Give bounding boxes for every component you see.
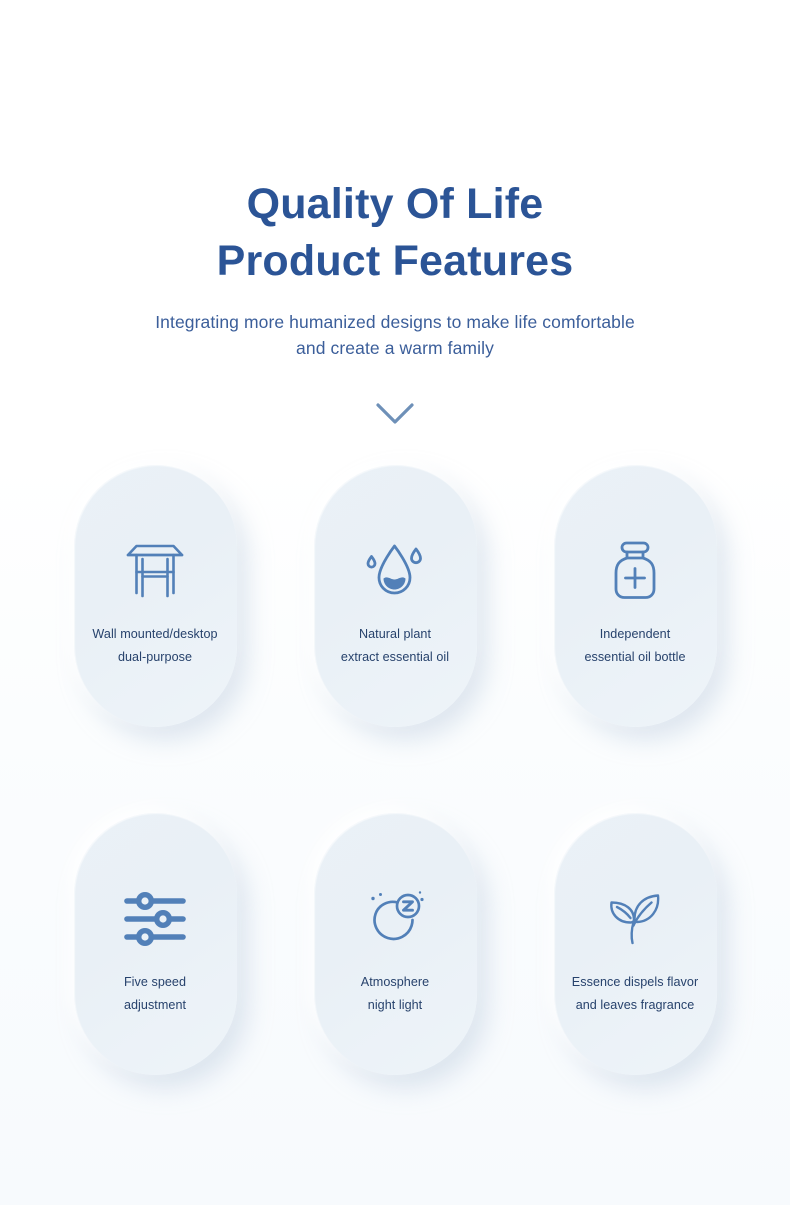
feature-card-wall-mounted-desktop[interactable]: Wall mounted/desktop dual-purpose	[74, 465, 237, 727]
feature-card-label: Essence dispels flavor and leaves fragra…	[559, 971, 711, 1017]
product-features-page: Quality Of Life Product Features Integra…	[0, 0, 790, 1205]
moon-sleep-icon	[363, 887, 427, 951]
feature-label-line-2: adjustment	[79, 994, 231, 1017]
feature-label-line-1: Essence dispels flavor	[572, 975, 698, 989]
page-title: Quality Of Life Product Features	[0, 176, 790, 290]
page-subtitle-line-2: and create a warm family	[0, 335, 790, 361]
feature-label-line-1: Five speed	[124, 975, 186, 989]
oil-bottle-icon	[603, 539, 667, 603]
feature-card-essence-dispels-flavor[interactable]: Essence dispels flavor and leaves fragra…	[554, 813, 717, 1075]
chevron-down-icon	[375, 401, 415, 427]
water-droplet-icon	[363, 539, 427, 603]
feature-card-atmosphere-night-light[interactable]: Atmosphere night light	[314, 813, 477, 1075]
feature-card-natural-plant-extract[interactable]: Natural plant extract essential oil	[314, 465, 477, 727]
page-subtitle: Integrating more humanized designs to ma…	[0, 309, 790, 361]
feature-card-label: Natural plant extract essential oil	[319, 623, 471, 669]
page-header: Quality Of Life Product Features Integra…	[0, 0, 790, 361]
features-row-1: Wall mounted/desktop dual-purpose Natura…	[45, 465, 745, 727]
leaves-icon	[603, 887, 667, 951]
sliders-icon	[123, 887, 187, 951]
feature-label-line-1: Natural plant	[359, 627, 431, 641]
features-row-2: Five speed adjustment	[45, 813, 745, 1075]
feature-card-label: Independent essential oil bottle	[559, 623, 711, 669]
feature-label-line-1: Independent	[600, 627, 671, 641]
feature-label-line-1: Atmosphere	[361, 975, 429, 989]
feature-card-label: Wall mounted/desktop dual-purpose	[79, 623, 231, 669]
page-title-line-1: Quality Of Life	[247, 180, 544, 228]
feature-label-line-2: night light	[319, 994, 471, 1017]
feature-label-line-2: and leaves fragrance	[559, 994, 711, 1017]
feature-label-line-2: dual-purpose	[79, 646, 231, 669]
feature-label-line-2: essential oil bottle	[559, 646, 711, 669]
page-subtitle-line-1: Integrating more humanized designs to ma…	[0, 309, 790, 335]
feature-card-label: Atmosphere night light	[319, 971, 471, 1017]
feature-label-line-2: extract essential oil	[319, 646, 471, 669]
scroll-divider	[0, 401, 790, 427]
page-title-line-2: Product Features	[0, 233, 790, 290]
feature-label-line-1: Wall mounted/desktop	[92, 627, 217, 641]
features-grid: Wall mounted/desktop dual-purpose Natura…	[0, 465, 790, 1075]
table-desk-icon	[123, 539, 187, 603]
feature-card-five-speed-adjustment[interactable]: Five speed adjustment	[74, 813, 237, 1075]
feature-card-independent-oil-bottle[interactable]: Independent essential oil bottle	[554, 465, 717, 727]
feature-card-label: Five speed adjustment	[79, 971, 231, 1017]
